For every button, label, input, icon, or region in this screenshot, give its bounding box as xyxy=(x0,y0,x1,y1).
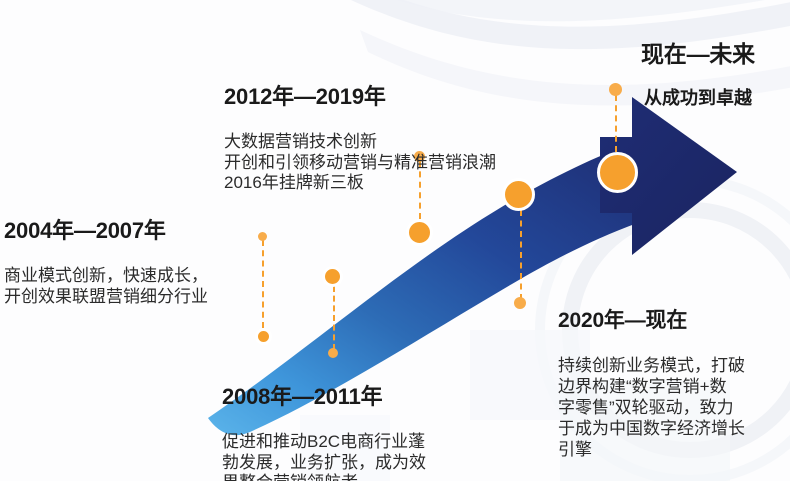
milestone-title-2020: 2020年—现在 xyxy=(558,308,790,334)
milestone-label-2004: 2004年—2007年 商业模式创新，快速成长， 开创效果联盟营销细分行业 xyxy=(4,198,208,327)
connector-stub-2 xyxy=(328,348,338,358)
milestone-label-future: 现在—未来 从成功到卓越 xyxy=(612,20,784,130)
milestone-node-3[interactable] xyxy=(406,219,433,246)
milestone-node-2[interactable] xyxy=(322,266,343,287)
milestone-label-2020: 2020年—现在 持续创新业务模式，打破 边界构建“数字营销+数 字零售”双轮驱… xyxy=(558,288,790,480)
connector-stub-4 xyxy=(514,297,526,309)
connector-stub-1 xyxy=(258,232,267,241)
milestone-label-2012: 2012年—2019年 大数据营销技术创新 开创和引领移动营销与精准营销浪潮 2… xyxy=(224,64,496,214)
milestone-body-2004: 商业模式创新，快速成长， 开创效果联盟营销细分行业 xyxy=(4,266,208,307)
connector-line-1 xyxy=(262,240,264,328)
milestone-node-4[interactable] xyxy=(502,178,535,211)
timeline-infographic: 2004年—2007年 商业模式创新，快速成长， 开创效果联盟营销细分行业 20… xyxy=(0,0,790,481)
connector-line-2 xyxy=(333,286,335,350)
milestone-title-2012: 2012年—2019年 xyxy=(224,84,496,111)
milestone-node-1[interactable] xyxy=(255,328,272,345)
milestone-label-2008: 2008年—2011年 促进和推动B2C电商行业蓬 勃发展，业务扩张，成为效 果… xyxy=(222,364,426,481)
milestone-body-2008: 促进和推动B2C电商行业蓬 勃发展，业务扩张，成为效 果整合营销领航者 xyxy=(222,432,426,481)
milestone-title-2008: 2008年—2011年 xyxy=(222,384,426,411)
milestone-node-5[interactable] xyxy=(597,152,638,193)
milestone-title-2004: 2004年—2007年 xyxy=(4,218,208,245)
milestone-subtitle-future: 从成功到卓越 xyxy=(612,88,784,110)
milestone-body-2012: 大数据营销技术创新 开创和引领移动营销与精准营销浪潮 2016年挂牌新三板 xyxy=(224,132,496,194)
milestone-body-2020: 持续创新业务模式，打破 边界构建“数字营销+数 字零售”双轮驱动，致力 于成为中… xyxy=(558,355,790,460)
connector-line-4 xyxy=(520,210,522,300)
milestone-title-future: 现在—未来 xyxy=(612,40,784,68)
